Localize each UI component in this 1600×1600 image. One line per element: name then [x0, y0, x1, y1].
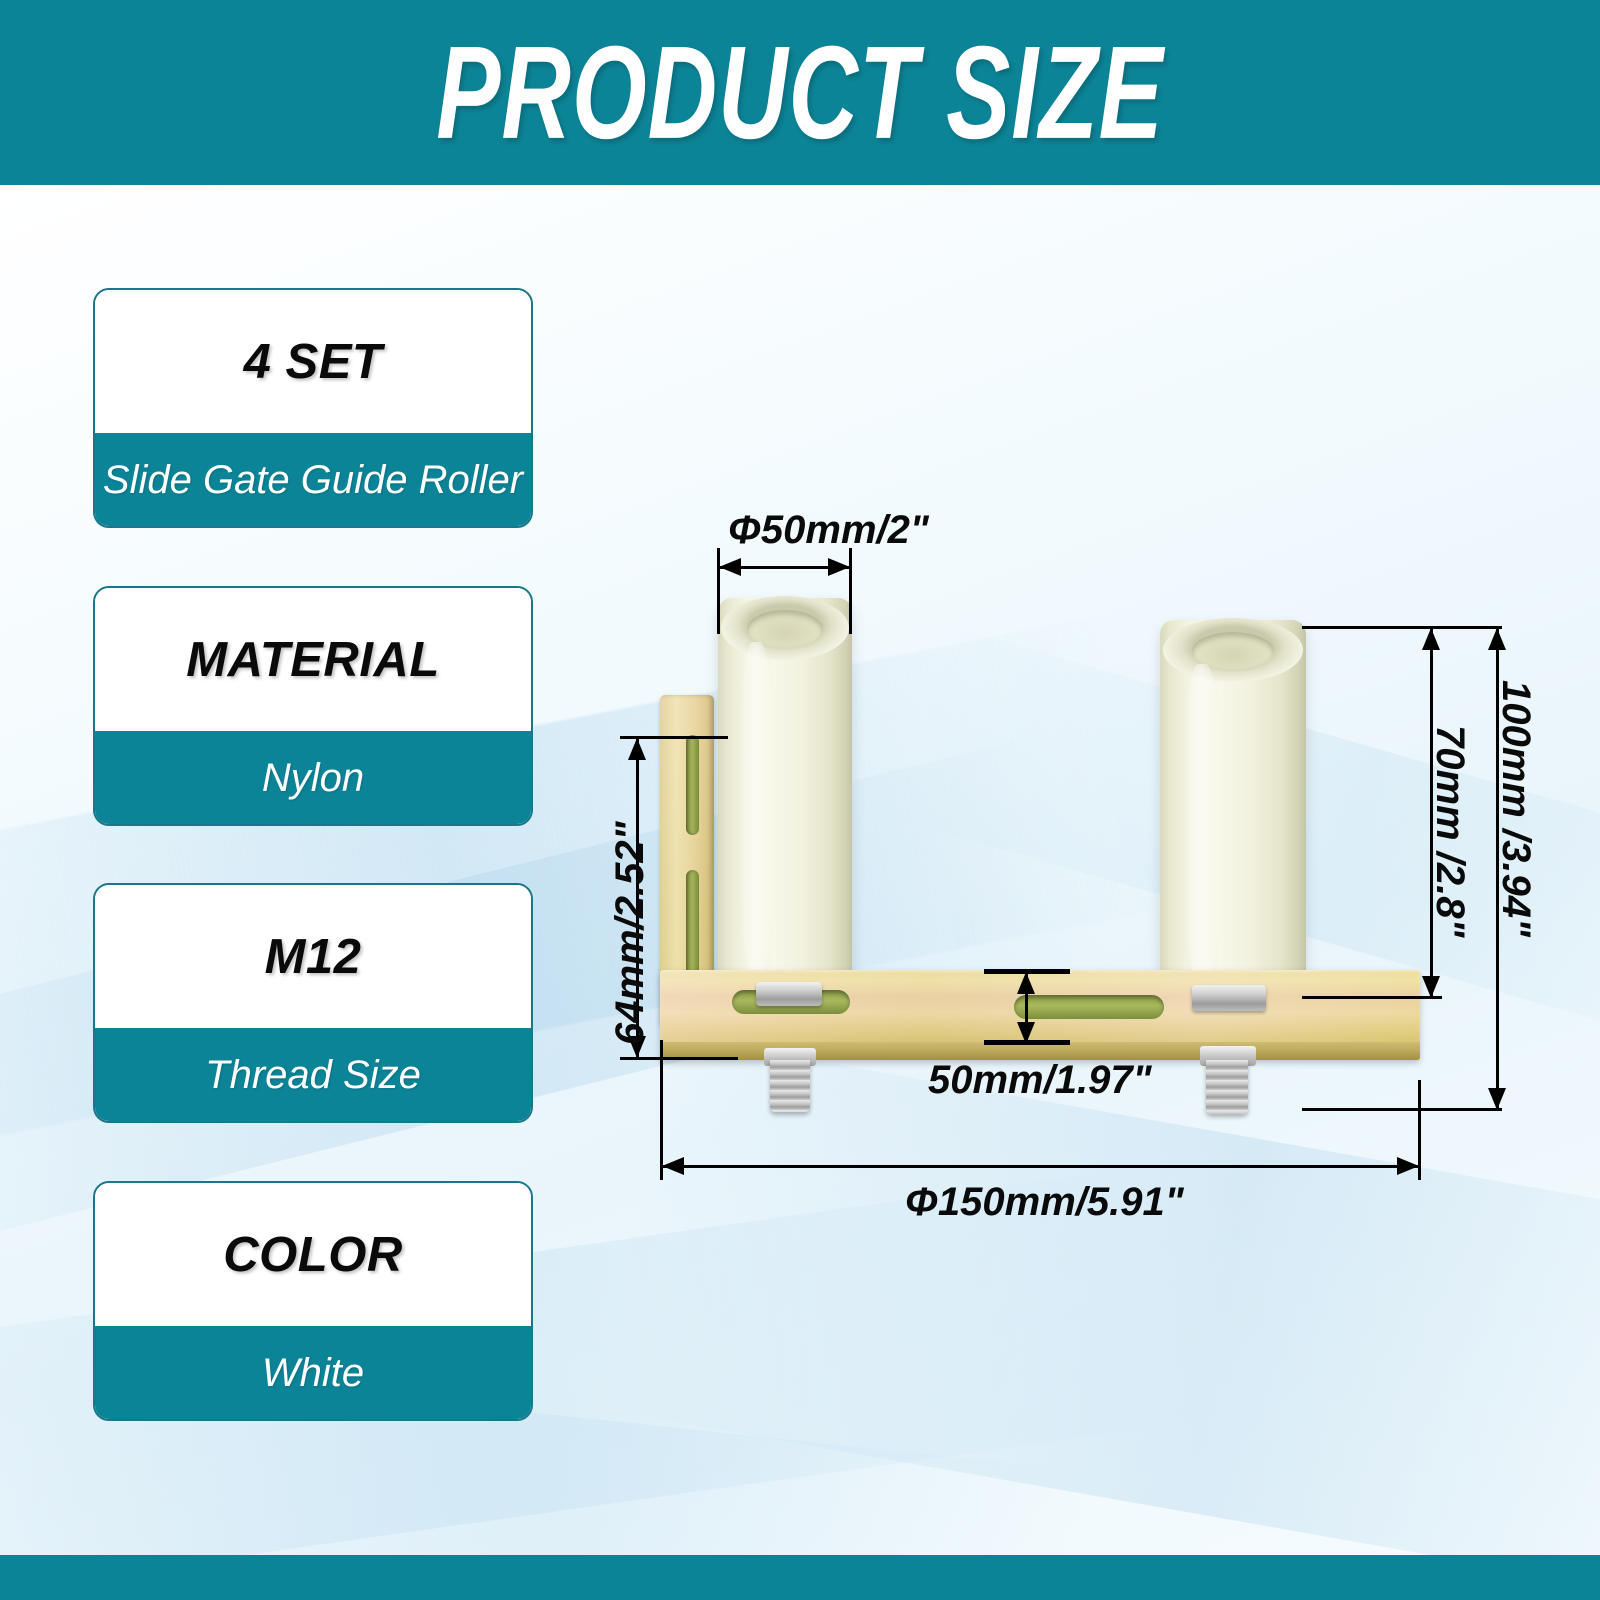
threaded-stud-left [770, 1060, 810, 1112]
dim-label-overall-height: 100mm /3.94" [1493, 680, 1538, 937]
dim-arrow-right [828, 558, 850, 576]
spec-card-subtitle: Nylon [262, 756, 364, 801]
dim-label-bracket-height: 64mm/2.52" [608, 821, 653, 1045]
spec-card-thread-size: M12 Thread Size [93, 883, 533, 1123]
dim-arrow-up [1422, 628, 1440, 650]
bracket-upright-slot [686, 735, 699, 835]
dim-arrow-left [719, 558, 741, 576]
spec-card-subtitle-area: Slide Gate Guide Roller [95, 433, 531, 528]
spec-card-title-area: COLOR [95, 1183, 531, 1326]
dim-arrow-left [662, 1157, 684, 1175]
dim-arrow-down [1488, 1088, 1506, 1110]
spec-card-title-area: MATERIAL [95, 588, 531, 731]
spec-card-subtitle: Slide Gate Guide Roller [103, 458, 523, 503]
spec-card-title: 4 SET [244, 334, 383, 390]
dim-label-overall-width: Φ150mm/5.91" [905, 1180, 1184, 1225]
dim-line-overall-width [662, 1165, 1419, 1168]
roller-retaining-nut-left [756, 982, 822, 1006]
spec-card-subtitle-area: Thread Size [95, 1028, 531, 1123]
spec-card-subtitle-area: White [95, 1326, 531, 1421]
spec-card-subtitle: Thread Size [205, 1053, 421, 1098]
spec-card-set-quantity: 4 SET Slide Gate Guide Roller [93, 288, 533, 528]
bracket-upright-slot [686, 870, 699, 980]
spec-card-title: COLOR [223, 1227, 402, 1283]
spec-card-color: COLOR White [93, 1181, 533, 1421]
threaded-stud-right [1206, 1060, 1248, 1114]
dim-label-roller-height: 70mm /2.8" [1427, 725, 1472, 937]
page-title: PRODUCT SIZE [112, 0, 1488, 202]
dim-arrow-up [628, 738, 646, 760]
footer-banner [0, 1555, 1600, 1600]
product-dimension-figure: Φ50mm/2" 64mm/2.52" 50mm/1.97" 70mm /2.8… [560, 480, 1600, 1260]
base-plate-slot-right [1014, 995, 1164, 1019]
spec-card-title-area: M12 [95, 885, 531, 1028]
nylon-roller-left [718, 598, 852, 983]
spec-card-title-area: 4 SET [95, 290, 531, 433]
dim-extension-line [1302, 1108, 1502, 1111]
spec-card-title: M12 [265, 929, 362, 985]
spec-card-title: MATERIAL [186, 632, 440, 688]
header-banner: PRODUCT SIZE [0, 0, 1600, 185]
nylon-roller-right [1160, 620, 1306, 990]
roller-highlight [1183, 664, 1221, 980]
dim-extension-line [1302, 626, 1502, 629]
dim-arrow-up [1488, 628, 1506, 650]
spec-card-material: MATERIAL Nylon [93, 586, 533, 826]
dim-arrow-up [1017, 972, 1035, 994]
dim-arrow-down [1422, 976, 1440, 998]
roller-highlight [739, 642, 774, 973]
dim-label-plate-thickness: 50mm/1.97" [928, 1058, 1152, 1103]
dim-extension-line [1302, 996, 1442, 999]
roller-retaining-nut-right [1192, 985, 1266, 1011]
dim-arrow-right [1397, 1157, 1419, 1175]
dim-label-roller-diameter: Φ50mm/2" [728, 508, 929, 553]
spec-card-subtitle-area: Nylon [95, 731, 531, 826]
spec-card-subtitle: White [262, 1351, 364, 1396]
dim-arrow-down [1017, 1022, 1035, 1044]
